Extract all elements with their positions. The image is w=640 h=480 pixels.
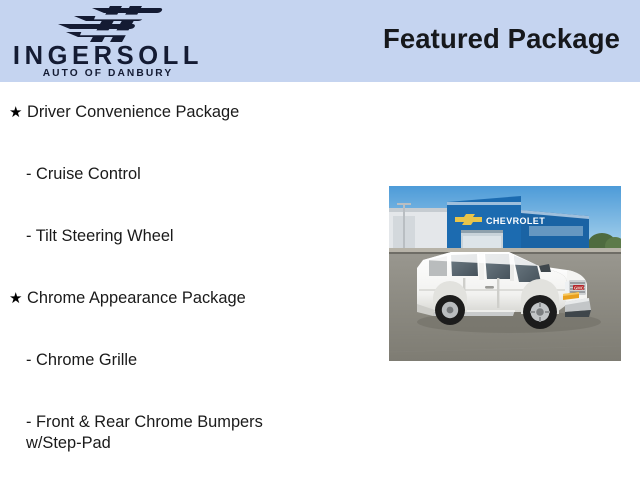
- svg-text:GMC: GMC: [574, 285, 584, 290]
- vehicle-photo: CHEVROLET: [389, 186, 621, 361]
- list-item: ★Driver Convenience Package: [9, 103, 239, 122]
- list-item: - Front & Rear Chrome Bumpers w/Step-Pad: [26, 413, 263, 453]
- feature-list: ★Driver Convenience Package - Cruise Con…: [0, 82, 360, 480]
- ingersoll-winged-emblem-icon: [52, 5, 174, 43]
- list-item-label: Chrome Appearance Package: [27, 289, 246, 307]
- star-bullet-icon: ★: [9, 289, 27, 307]
- list-item-label: - Tilt Steering Wheel: [26, 227, 174, 245]
- list-item-label: - Cruise Control: [26, 165, 141, 183]
- list-item-label: Driver Convenience Package: [27, 103, 239, 121]
- star-bullet-icon: ★: [9, 103, 27, 121]
- logo-tagline: AUTO OF DANBURY: [8, 69, 208, 79]
- header-band: INGERSOLL AUTO OF DANBURY Featured Packa…: [0, 0, 640, 82]
- list-item: ★Chrome Appearance Package: [9, 289, 246, 308]
- list-item-label: - Front & Rear Chrome Bumpers: [26, 413, 263, 432]
- list-item: - Cruise Control: [26, 165, 141, 184]
- logo-wordmark: INGERSOLL: [8, 44, 208, 70]
- svg-text:CHEVROLET: CHEVROLET: [486, 216, 545, 226]
- list-item-label-continuation: w/Step-Pad: [26, 434, 263, 453]
- page-title: Featured Package: [383, 23, 620, 55]
- list-item-label: - Chrome Grille: [26, 351, 137, 369]
- dealer-logo: INGERSOLL AUTO OF DANBURY: [8, 2, 208, 80]
- list-item: - Chrome Grille: [26, 351, 137, 370]
- list-item: - Tilt Steering Wheel: [26, 227, 174, 246]
